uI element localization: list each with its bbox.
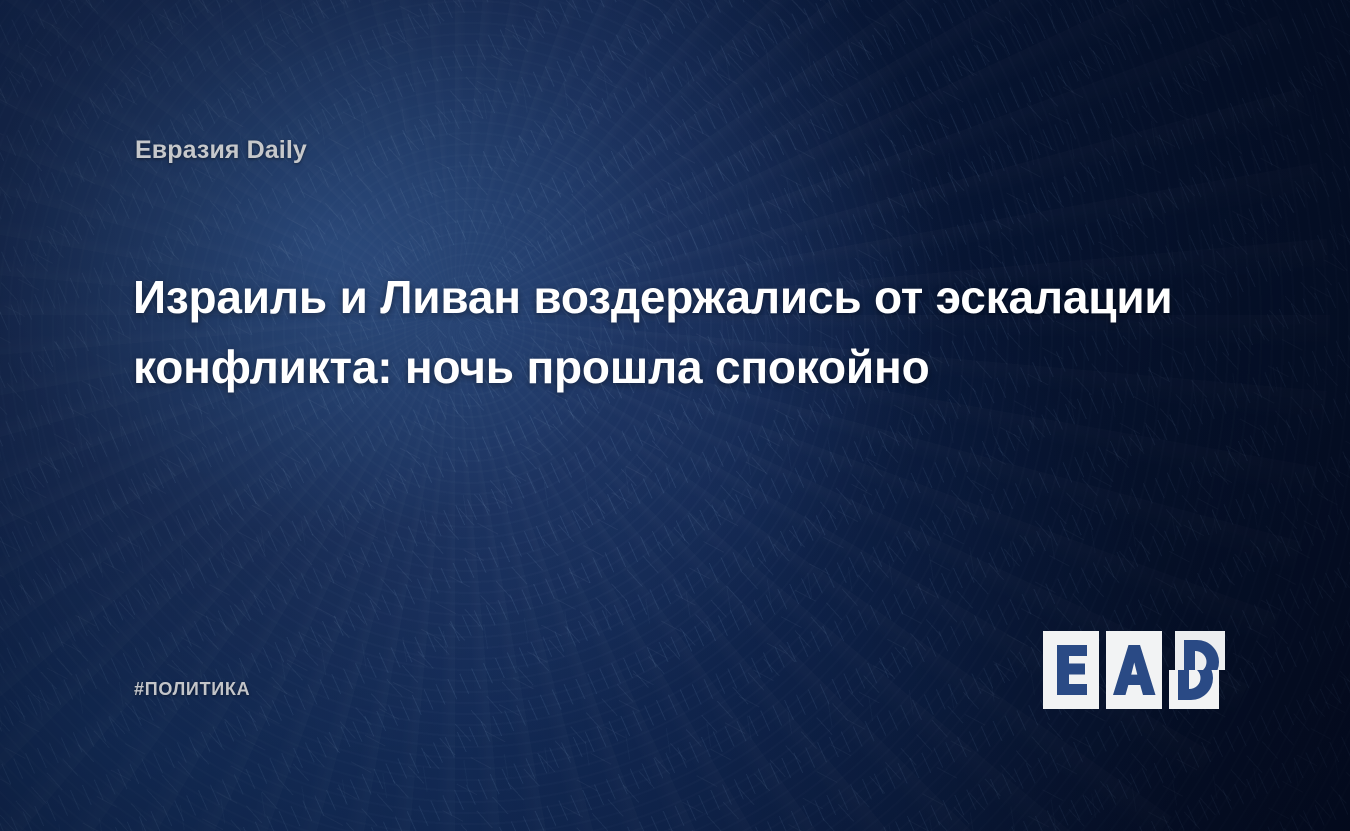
ead-logo	[1043, 631, 1225, 709]
logo-tile-e	[1043, 631, 1099, 709]
card-content: Евразия Daily Израиль и Ливан воздержали…	[0, 0, 1350, 831]
news-card: Евразия Daily Израиль и Ливан воздержали…	[0, 0, 1350, 831]
brand-name: Евразия Daily	[135, 136, 307, 165]
logo-tile-d-split	[1169, 631, 1225, 709]
logo-tile-a	[1106, 631, 1162, 709]
category-hashtag: #ПОЛИТИКА	[134, 679, 250, 700]
page-title: Израиль и Ливан воздержались от эскалаци…	[133, 262, 1193, 403]
ead-logo-svg	[1043, 631, 1225, 709]
